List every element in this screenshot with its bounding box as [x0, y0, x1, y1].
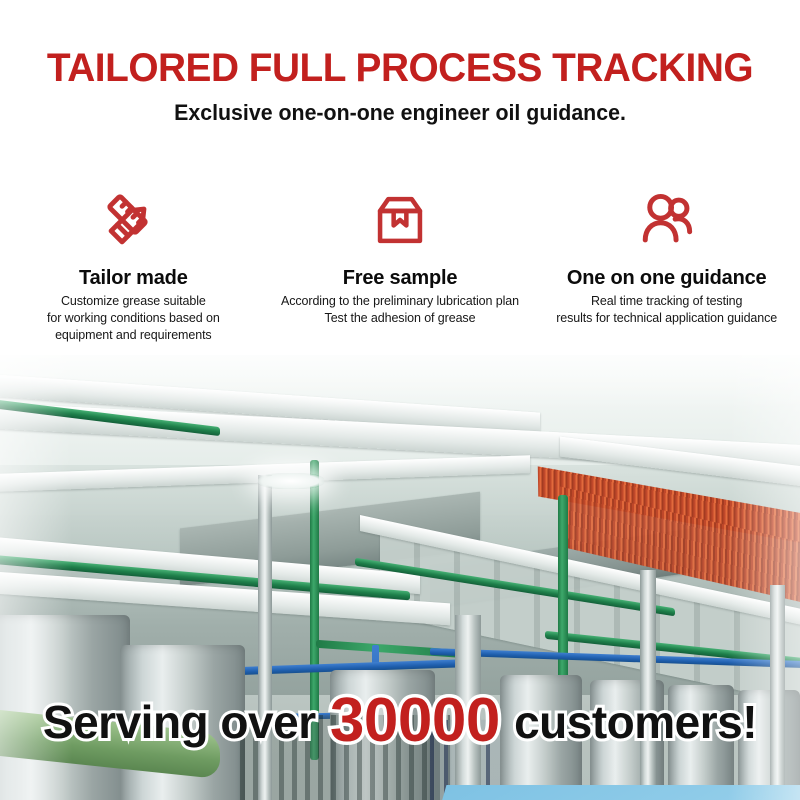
bottom-headline-suffix: customers! — [514, 696, 757, 748]
bottom-headline-number: 30000 — [328, 686, 502, 755]
feature-description: According to the preliminary lubrication… — [281, 293, 519, 327]
bottom-headline-prefix: Serving over — [43, 696, 316, 748]
feature-item-one-on-one-guidance: One on one guidance Real time tracking o… — [533, 185, 800, 327]
feature-list: Tailor made Customize grease suitable fo… — [0, 185, 800, 350]
package-box-icon — [371, 185, 429, 255]
header-section: TAILORED FULL PROCESS TRACKING Exclusive… — [0, 0, 800, 360]
feature-title: Tailor made — [79, 267, 188, 289]
bottom-headline: Serving over 30000 customers! — [0, 690, 800, 752]
feature-title: Free sample — [343, 267, 458, 289]
ruler-pencil-icon — [102, 185, 164, 255]
feature-item-free-sample: Free sample According to the preliminary… — [267, 185, 534, 327]
page-subtitle: Exclusive one-on-one engineer oil guidan… — [12, 100, 788, 126]
feature-item-tailor-made: Tailor made Customize grease suitable fo… — [0, 185, 267, 344]
feature-description: Real time tracking of testing results fo… — [556, 293, 777, 327]
feature-description: Customize grease suitable for working co… — [47, 293, 220, 344]
feature-title: One on one guidance — [567, 267, 767, 289]
promo-banner: TAILORED FULL PROCESS TRACKING Exclusive… — [0, 0, 800, 800]
page-title: TAILORED FULL PROCESS TRACKING — [12, 48, 788, 88]
two-people-icon — [637, 185, 697, 255]
photo-top-fade — [0, 355, 800, 410]
